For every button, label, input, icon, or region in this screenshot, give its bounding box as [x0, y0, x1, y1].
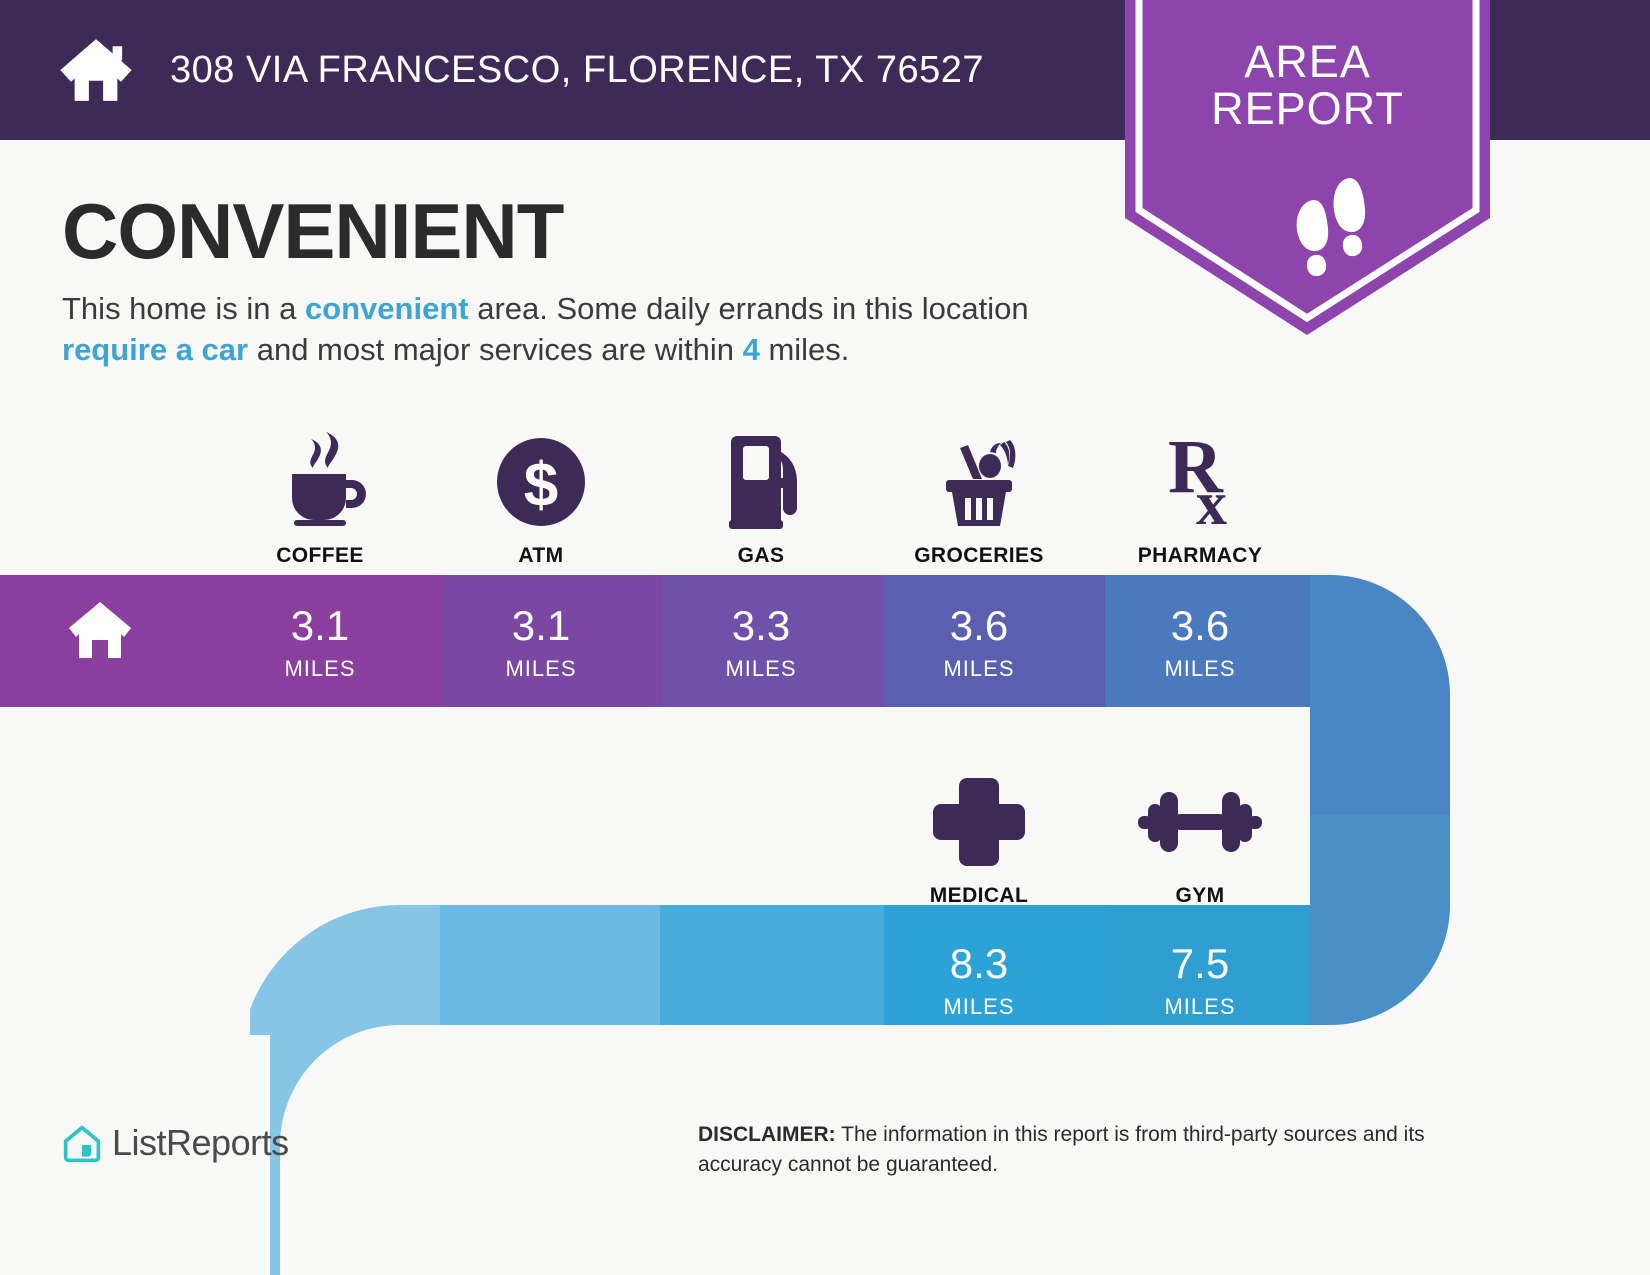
- path-segment-coffee: [221, 575, 442, 707]
- gas-pump-icon: [651, 420, 871, 530]
- path-segment-bottom-2: [440, 905, 660, 1035]
- page-title: CONVENIENT: [62, 186, 563, 277]
- service-label-coffee: COFFEE: [210, 544, 430, 568]
- listreports-logo: ListReports: [62, 1122, 289, 1164]
- summary-part-2: area. Some daily errands in this locatio…: [469, 291, 1029, 326]
- dollar-icon: $: [431, 420, 651, 530]
- path-segment-pharmacy: [1105, 575, 1310, 707]
- summary-part-4: miles.: [760, 332, 850, 367]
- service-label-atm: ATM: [431, 544, 651, 568]
- home-icon: [58, 32, 134, 108]
- home-marker-icon: [68, 600, 132, 660]
- path-segment-tail: [270, 1035, 415, 1275]
- area-report-badge: AREA REPORT: [1125, 0, 1490, 335]
- service-label-gas: GAS: [651, 544, 871, 568]
- summary-highlight-require-car: require a car: [62, 332, 248, 367]
- property-address: 308 VIA FRANCESCO, FLORENCE, TX 76527: [170, 49, 984, 92]
- path-segment-medical: [884, 905, 1105, 1035]
- service-icon-gas: GAS: [651, 420, 871, 568]
- listreports-wordmark: ListReports: [112, 1122, 289, 1164]
- summary-text: This home is in a convenient area. Some …: [62, 288, 1072, 370]
- path-segment-gym: [1105, 905, 1310, 1035]
- badge-title: AREA REPORT: [1125, 38, 1490, 133]
- svg-text:$: $: [524, 451, 558, 520]
- summary-part-3: and most major services are within: [248, 332, 742, 367]
- path-segment-bottom-3: [660, 905, 884, 1035]
- service-icon-groceries: GROCERIES: [869, 420, 1089, 568]
- summary-highlight-miles: 4: [743, 332, 760, 367]
- listreports-house-icon: [62, 1123, 102, 1163]
- rx-icon: R x: [1090, 420, 1310, 530]
- path-segment-gas: [663, 575, 884, 707]
- path-segment-groceries: [884, 575, 1105, 707]
- service-label-pharmacy: PHARMACY: [1090, 544, 1310, 568]
- svg-text:x: x: [1196, 470, 1227, 530]
- disclaimer: DISCLAIMER: The information in this repo…: [698, 1120, 1508, 1180]
- summary-highlight-convenient: convenient: [305, 291, 469, 326]
- basket-icon: [869, 420, 1089, 530]
- path-segment-atm: [442, 575, 663, 707]
- service-icon-pharmacy: R x PHARMACY: [1090, 420, 1310, 568]
- service-icon-coffee: COFFEE: [210, 420, 430, 568]
- disclaimer-label: DISCLAIMER:: [698, 1123, 836, 1146]
- path-segment-turn-top: [1310, 575, 1650, 815]
- path-segment-bottom-1: [250, 905, 440, 1035]
- summary-part-1: This home is in a: [62, 291, 305, 326]
- path-segment-turn-bottom: [1310, 815, 1650, 1025]
- service-icon-atm: $ ATM: [431, 420, 651, 568]
- coffee-icon: [210, 420, 430, 530]
- service-label-groceries: GROCERIES: [869, 544, 1089, 568]
